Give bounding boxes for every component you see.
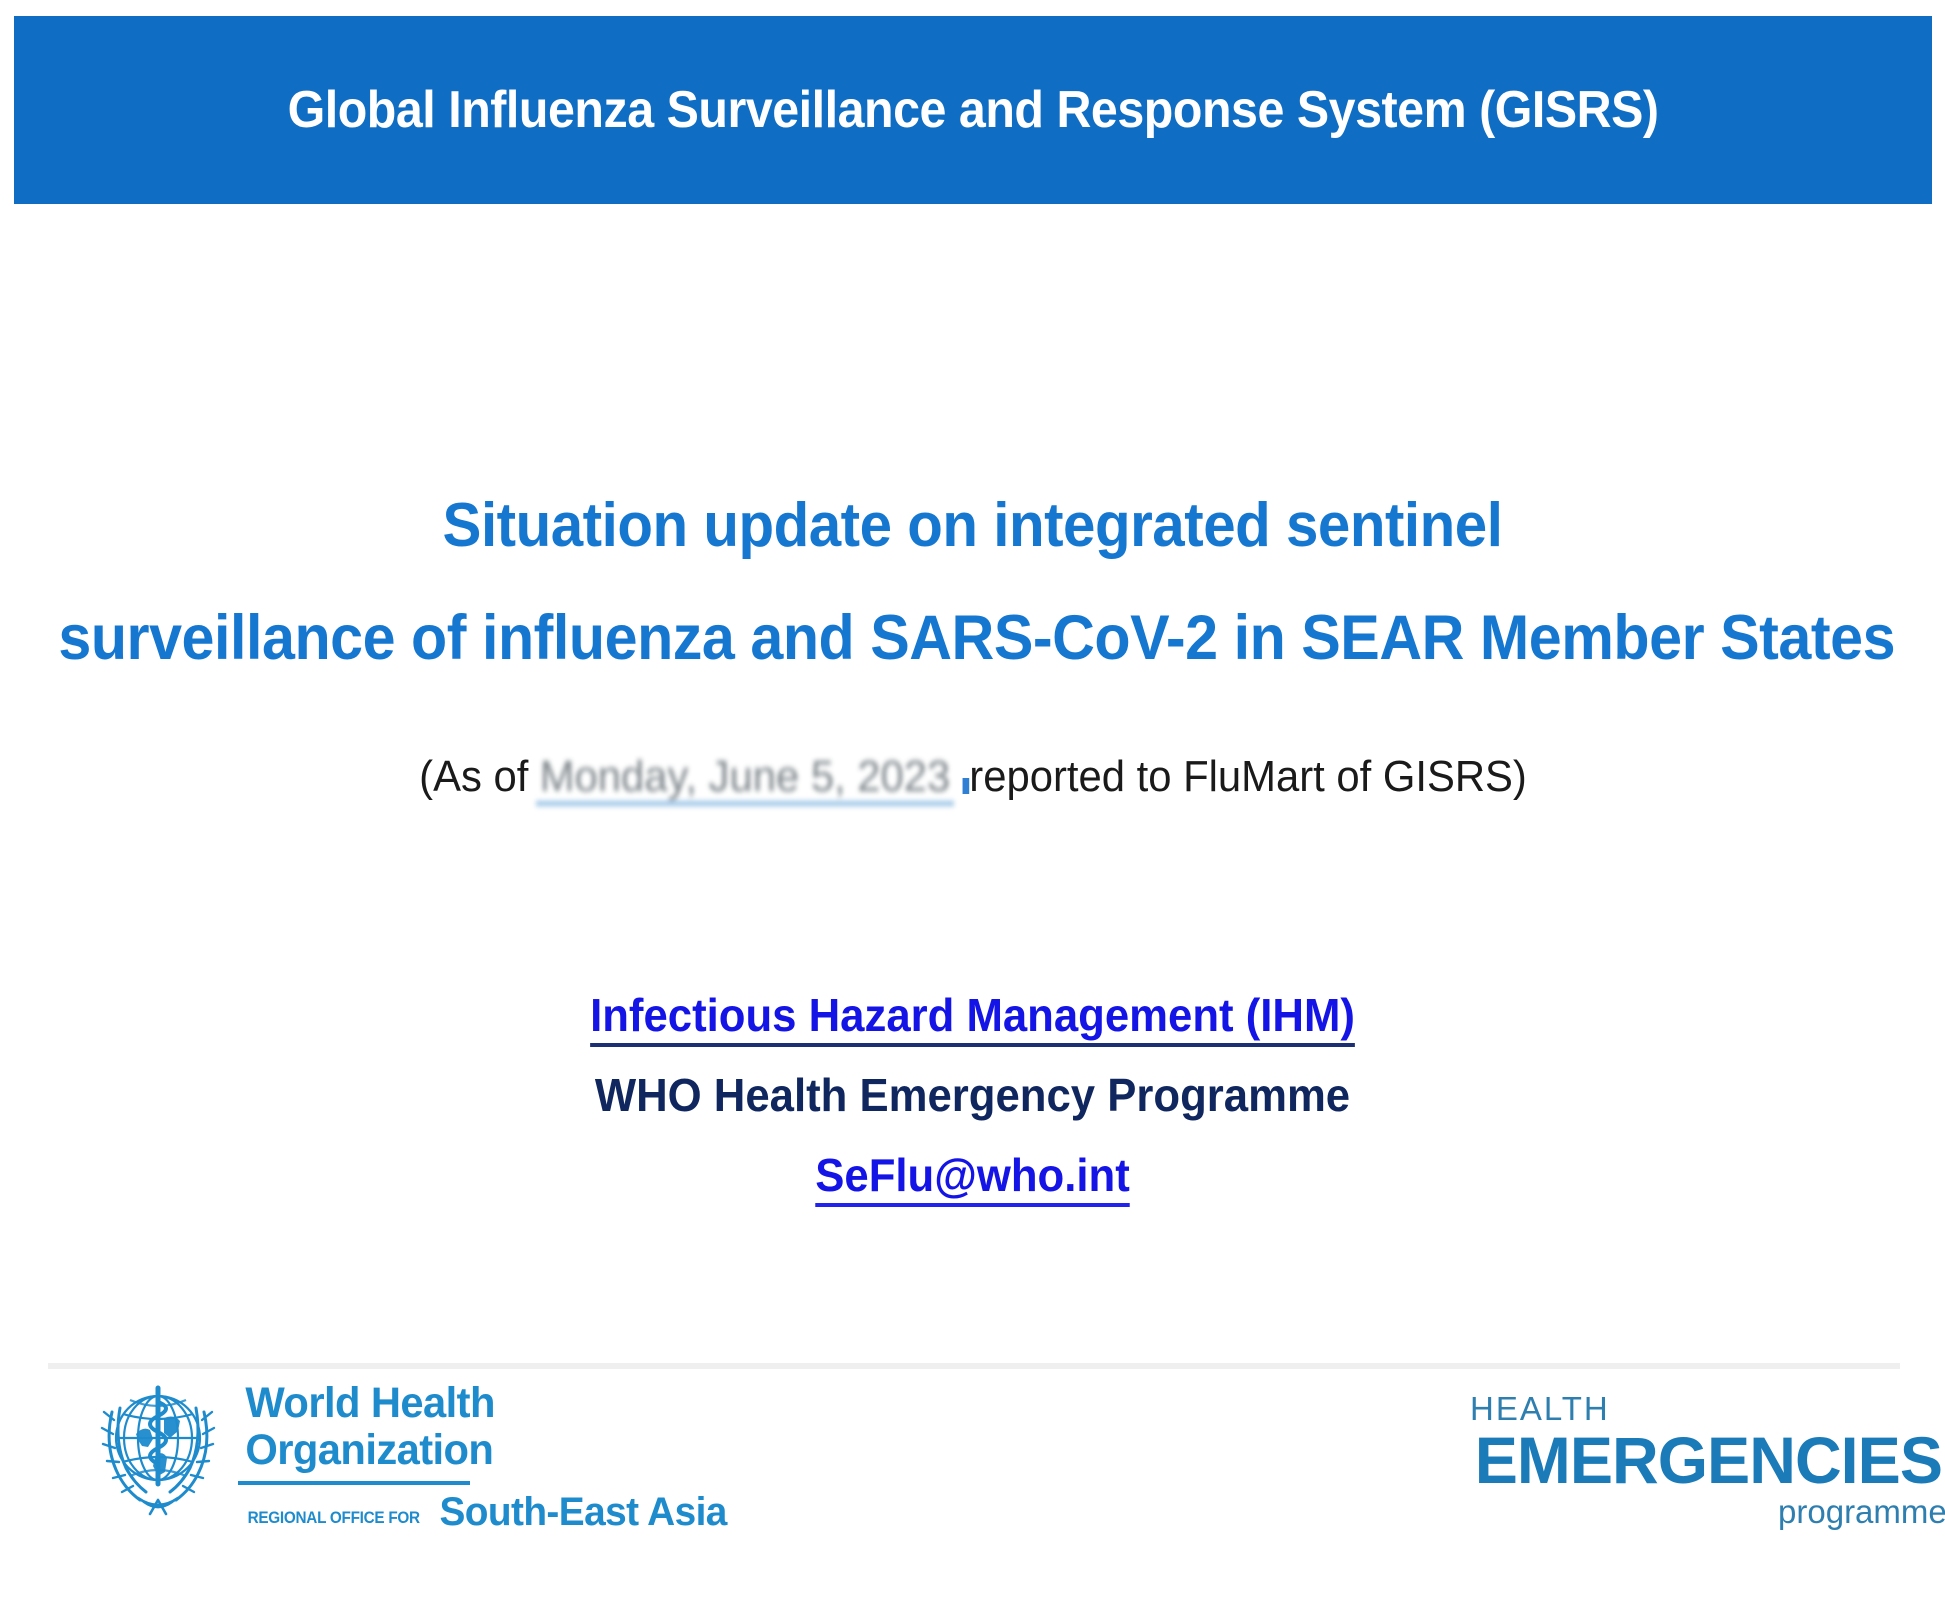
- who-wordmark-line-1: World Health: [245, 1380, 724, 1427]
- contact-programme-line: WHO Health Emergency Programme: [49, 1055, 1897, 1135]
- who-logo: World Health Organization REGIONAL OFFIC…: [92, 1372, 732, 1533]
- subtitle-date-blurred: Monday, June 5, 2023: [535, 752, 953, 804]
- presentation-slide: Global Influenza Surveillance and Respon…: [0, 0, 1945, 1607]
- subtitle-suffix: reported to FluMart of GISRS): [969, 752, 1527, 802]
- ihm-link[interactable]: Infectious Hazard Management (IHM): [590, 989, 1355, 1047]
- title-line-2: surveillance of influenza and SARS-CoV-2…: [58, 582, 1886, 694]
- he-logo-line-health: HEALTH: [1470, 1392, 1945, 1426]
- footer-divider: [48, 1363, 1900, 1369]
- header-banner: Global Influenza Surveillance and Respon…: [14, 16, 1932, 204]
- contact-email-line: SeFlu@who.int: [49, 1135, 1897, 1215]
- who-region-name: South-East Asia: [440, 1491, 727, 1533]
- who-emblem-icon: [92, 1372, 224, 1530]
- health-emergencies-logo: HEALTH EMERGENCIES programme: [1470, 1392, 1945, 1530]
- he-logo-line-programme: programme: [1470, 1494, 1945, 1530]
- slide-subtitle: (As of Monday, June 5, 2023 reported to …: [0, 752, 1945, 804]
- email-link[interactable]: SeFlu@who.int: [815, 1149, 1130, 1207]
- text-caret: [962, 778, 969, 794]
- programme-label: WHO Health Emergency Programme: [595, 1069, 1350, 1121]
- subtitle-row: (As of Monday, June 5, 2023 reported to …: [419, 752, 1527, 804]
- contact-block: Infectious Hazard Management (IHM) WHO H…: [0, 975, 1945, 1215]
- who-region-prefix: REGIONAL OFFICE FOR: [248, 1508, 420, 1533]
- header-title: Global Influenza Surveillance and Respon…: [288, 80, 1659, 140]
- title-line-1: Situation update on integrated sentinel: [58, 470, 1886, 582]
- who-wordmark: World Health Organization REGIONAL OFFIC…: [238, 1372, 732, 1533]
- subtitle-prefix: (As of: [419, 752, 528, 802]
- who-region-row: REGIONAL OFFICE FOR South-East Asia: [238, 1491, 732, 1533]
- who-wordmark-rule: [238, 1481, 470, 1485]
- contact-unit-line: Infectious Hazard Management (IHM): [49, 975, 1897, 1055]
- slide-title: Situation update on integrated sentinel …: [0, 470, 1945, 694]
- he-logo-line-emergencies: EMERGENCIES: [1475, 1426, 1942, 1494]
- who-wordmark-line-2: Organization: [245, 1427, 724, 1474]
